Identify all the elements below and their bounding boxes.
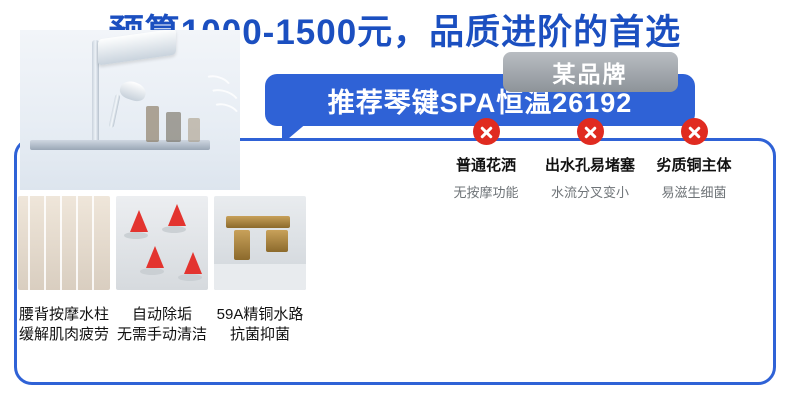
feature-caption-3-line1: 59A精铜水路	[214, 305, 306, 325]
nozzle-icon	[168, 204, 186, 226]
brass-part	[226, 216, 290, 228]
nozzle-icon	[146, 246, 164, 268]
feature-caption-2-line2: 无需手动清洁	[116, 325, 208, 345]
feature-thumb-3	[214, 196, 306, 290]
feature-caption-2: 自动除垢 无需手动清洁	[116, 305, 208, 345]
water-jet-line	[76, 196, 78, 290]
feature-thumb-1	[18, 196, 110, 290]
competitor-brand-badge: 某品牌	[503, 52, 678, 92]
brass-part	[266, 230, 288, 252]
feature-thumb-2	[116, 196, 208, 290]
drawback-list: 普通花洒 无按摩功能 出水孔易堵塞 水流分叉变小 劣质铜主体 易滋生细菌	[430, 118, 750, 201]
feature-caption-3: 59A精铜水路 抗菌抑菌	[214, 305, 306, 345]
promo-banner: 预算1000-1500元，品质进阶的首选 推荐琴键SPA恒温26192	[0, 0, 790, 411]
competitor-comparison: 某品牌 普通花洒 无按摩功能 出水孔易堵塞 水流分叉变小 劣质铜主体 易滋生细菌	[430, 52, 750, 201]
brass-part	[234, 230, 250, 260]
feature-caption-2-line1: 自动除垢	[116, 305, 208, 325]
drawback-sub: 水流分叉变小	[542, 182, 638, 201]
drawback-title: 普通花洒	[438, 154, 534, 175]
nozzle-base	[124, 232, 148, 239]
product-photo	[20, 30, 240, 190]
nozzle-icon	[184, 252, 202, 274]
x-circle-icon	[681, 118, 708, 145]
feature-caption-1-line2: 缓解肌肉疲劳	[18, 325, 110, 345]
drawback-title: 出水孔易堵塞	[542, 154, 638, 175]
feature-caption-3-line2: 抗菌抑菌	[214, 325, 306, 345]
drawback-item: 劣质铜主体 易滋生细菌	[646, 118, 742, 201]
drawback-sub: 无按摩功能	[438, 182, 534, 201]
shower-shelf	[30, 140, 210, 150]
drawback-item: 普通花洒 无按摩功能	[438, 118, 534, 201]
competitor-brand-label: 某品牌	[553, 55, 628, 89]
thumb-base	[214, 264, 306, 290]
water-jet-line	[44, 196, 46, 290]
drawback-item: 出水孔易堵塞 水流分叉变小	[542, 118, 638, 201]
nozzle-base	[140, 268, 164, 275]
feature-caption-1-line1: 腰背按摩水柱	[18, 305, 110, 325]
feature-thumbnails	[18, 196, 308, 376]
water-jet-line	[92, 196, 94, 290]
water-jet-line	[60, 196, 62, 290]
drawback-sub: 易滋生细菌	[646, 182, 742, 201]
bottle-icon	[166, 112, 181, 142]
feature-captions: 腰背按摩水柱 缓解肌肉疲劳 自动除垢 无需手动清洁 59A精铜水路 抗菌抑菌	[18, 305, 318, 345]
bottle-icon	[188, 118, 200, 142]
nozzle-icon	[130, 210, 148, 232]
x-circle-icon	[577, 118, 604, 145]
x-circle-icon	[473, 118, 500, 145]
water-jet-line	[28, 196, 30, 290]
nozzle-base	[178, 274, 202, 281]
feature-caption-1: 腰背按摩水柱 缓解肌肉疲劳	[18, 305, 110, 345]
nozzle-base	[162, 226, 186, 233]
drawback-title: 劣质铜主体	[646, 154, 742, 175]
bottle-icon	[146, 106, 159, 142]
